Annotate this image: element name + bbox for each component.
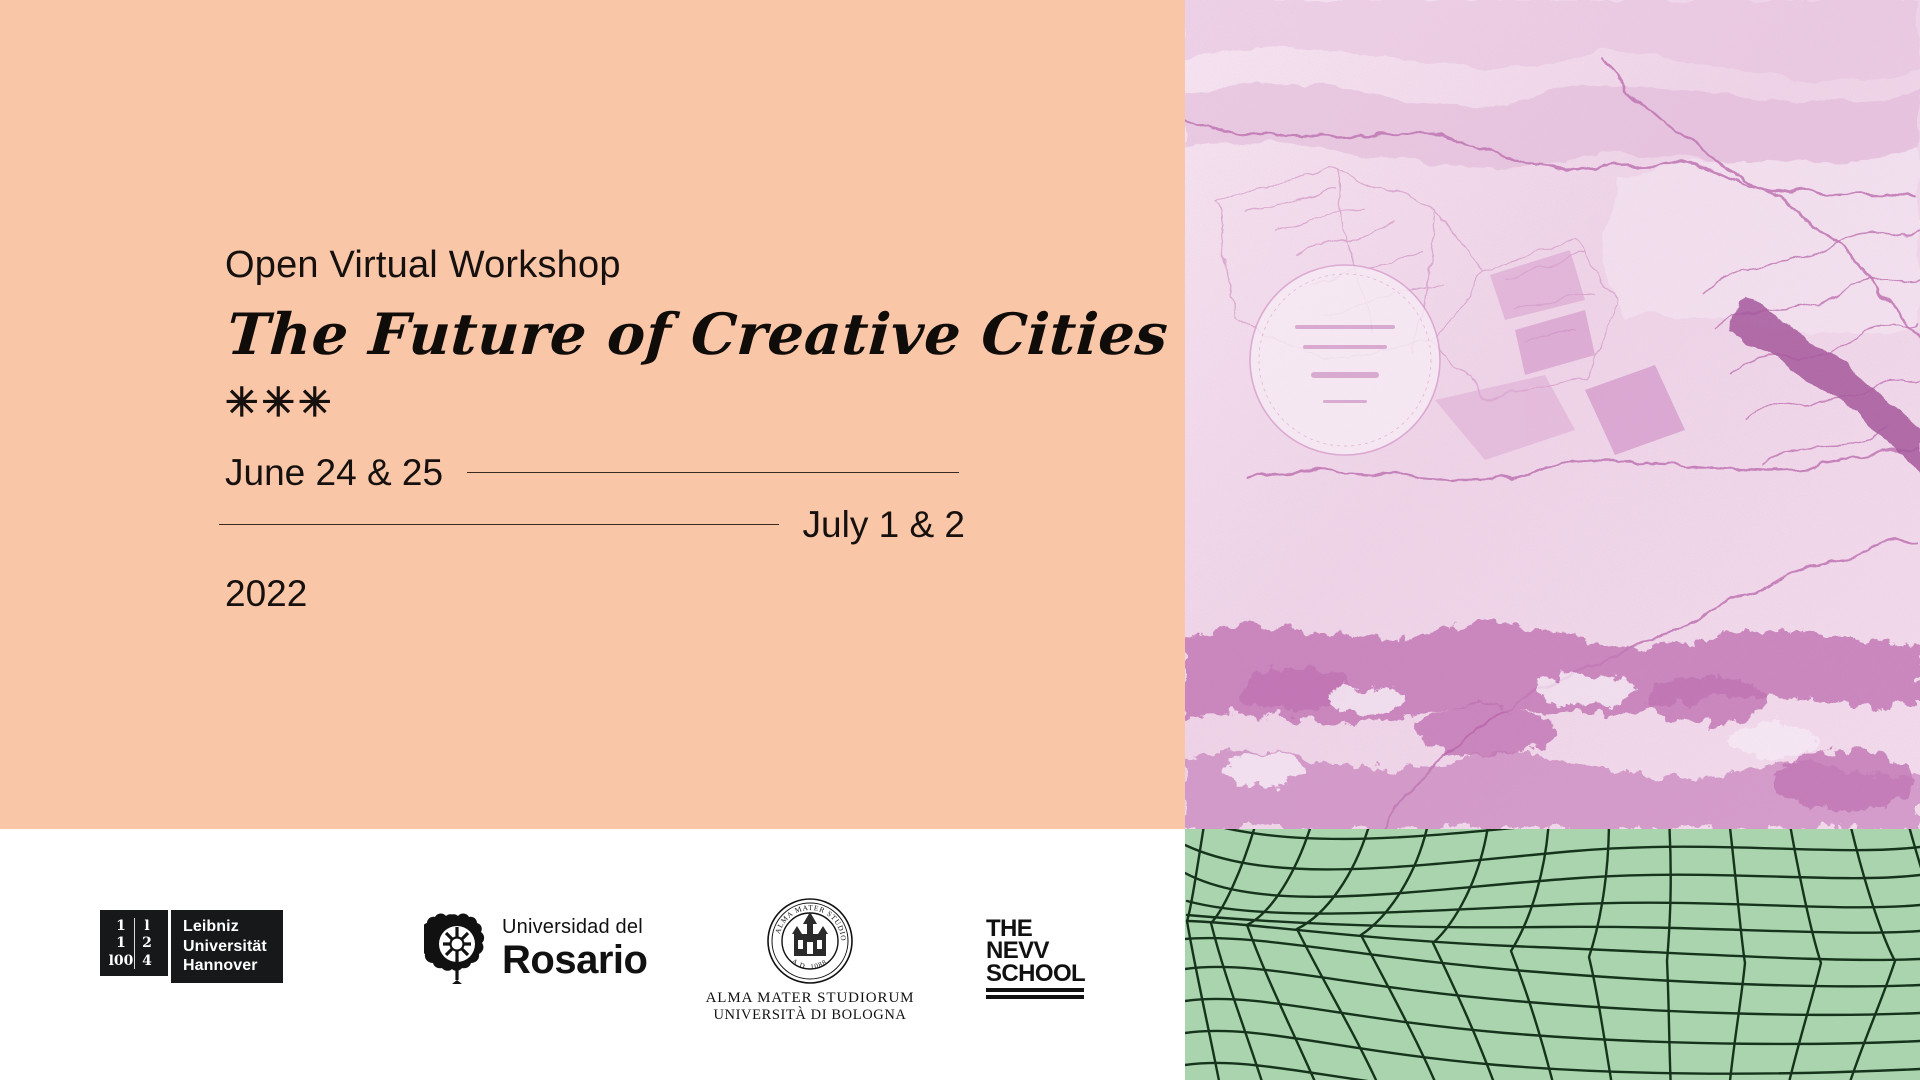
logo-the-new-school: THE NEVV SCHOOL [986,918,1085,999]
bologna-seal-icon: ALMA MATER STUDIORUM A.D. 1088 [767,898,853,984]
leibniz-line: Leibniz [183,917,267,937]
date-first: June 24 & 25 [225,454,443,491]
rosario-line-bottom: Rosario [502,939,647,981]
date-second: July 1 & 2 [803,506,965,543]
leibniz-lockup: 1 l 1 2 l00 4 Leibniz Universität Hannov… [100,910,283,983]
newschool-bar-top [986,988,1084,992]
rosario-wordmark: Universidad del Rosario [502,916,647,981]
left-column: Open Virtual Workshop The Future of Crea… [0,0,1185,1080]
rosario-line-top: Universidad del [502,916,647,938]
right-column [1185,0,1920,1080]
antique-map-graphic [1185,0,1920,829]
date-row-second: July 1 & 2 [225,499,965,551]
leibniz-line: Universität [183,937,267,957]
logo-leibniz-universitat-hannover: 1 l 1 2 l00 4 Leibniz Universität Hannov… [100,910,283,983]
leibniz-digit: 1 [108,917,134,935]
leibniz-line: Hannover [183,956,267,976]
newschool-line-3: SCHOOL [986,963,1085,985]
leibniz-mark-divider [134,918,135,969]
logo-universita-di-bologna: ALMA MATER STUDIORUM A.D. 1088 [700,898,920,1023]
leibniz-digit: 1 [108,935,134,953]
map-image-panel [1185,0,1920,829]
leibniz-digit: l00 [108,952,134,970]
asterisk-separator: ✳✳✳ [225,391,965,417]
event-text-block: Open Virtual Workshop The Future of Crea… [225,245,965,612]
warped-grid-graphic [1185,829,1920,1080]
rosario-crest-icon [424,912,490,984]
date-rule-first [467,472,959,473]
leibniz-digit: 2 [134,935,160,953]
leibniz-wordmark: Leibniz Universität Hannover [171,910,283,983]
newschool-wordmark: THE NEVV SCHOOL [986,918,1085,985]
leibniz-binary-mark-icon: 1 l 1 2 l00 4 [100,910,168,976]
bologna-line-1: ALMA MATER STUDIORUM [706,990,915,1007]
leibniz-digit: l [134,917,160,935]
leibniz-digit: 4 [134,952,160,970]
logo-universidad-del-rosario: Universidad del Rosario [424,912,647,984]
event-headline: The Future of Creative Cities [225,305,969,365]
newschool-bar-bottom [986,995,1084,999]
bologna-wordmark: ALMA MATER STUDIORUM UNIVERSITÀ DI BOLOG… [706,990,915,1023]
event-year: 2022 [225,575,965,612]
bologna-line-2: UNIVERSITÀ DI BOLOGNA [706,1007,915,1023]
event-kicker: Open Virtual Workshop [225,245,965,287]
date-rule-second [219,524,779,525]
date-row-first: June 24 & 25 [225,447,965,499]
poster-canvas: Open Virtual Workshop The Future of Crea… [0,0,1920,1080]
svg-text:A.D. 1088: A.D. 1088 [790,957,829,971]
mesh-grid-panel [1185,829,1920,1080]
